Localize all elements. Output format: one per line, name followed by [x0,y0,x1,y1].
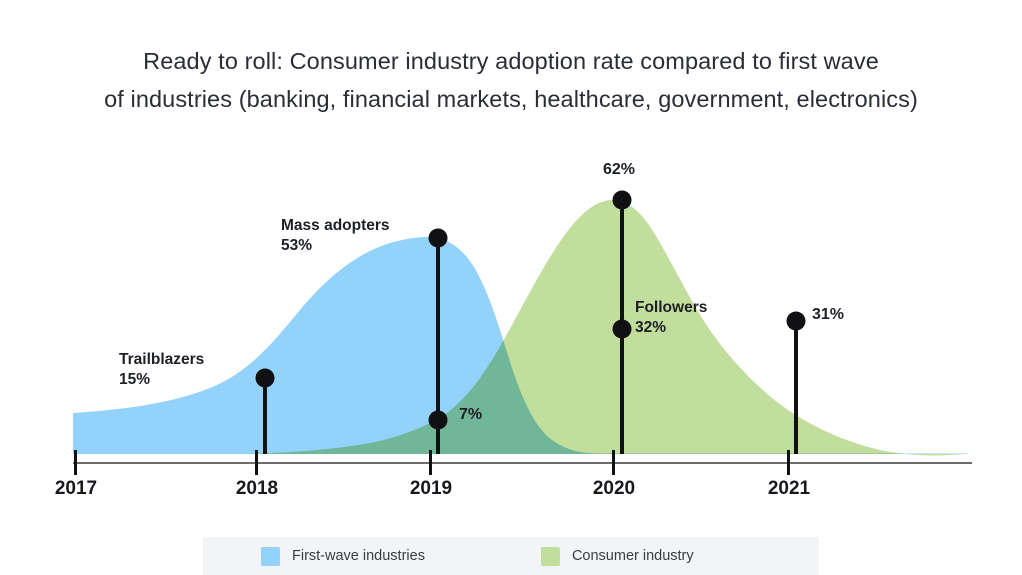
annotation-trailblazers-value: 15% [119,370,204,390]
marker-consumer-2021 [786,321,805,454]
marker-trailblazers [255,378,274,454]
annotation-followers: Followers 32% [635,298,707,338]
marker-stem [794,321,798,454]
annotation-mass-adopters: Mass adopters 53% [281,216,390,256]
annotation-consumer-peak-value: 62% [603,160,635,180]
chart-legend: First-wave industries Consumer industry [203,537,819,575]
legend-label-first-wave: First-wave industries [292,548,425,564]
annotation-consumer-2021-value: 31% [812,305,844,325]
legend-swatch-first-wave [261,547,280,566]
annotation-consumer-peak: 62% [603,160,635,180]
marker-dot [255,369,274,388]
x-axis-label-2018: 2018 [236,478,278,500]
x-axis-line [73,462,972,464]
marker-dot [786,312,805,331]
annotation-followers-name: Followers [635,298,707,318]
area-curves [0,0,1022,520]
annotation-mass-adopters-name: Mass adopters [281,216,390,236]
legend-item-first-wave[interactable]: First-wave industries [261,547,425,566]
annotation-trailblazers: Trailblazers 15% [119,350,204,390]
annotation-consumer-2019-value: 7% [459,405,482,425]
legend-swatch-consumer [541,547,560,566]
marker-consumer-2019 [428,420,447,454]
annotation-mass-adopters-value: 53% [281,236,390,256]
annotation-trailblazers-name: Trailblazers [119,350,204,370]
legend-item-consumer[interactable]: Consumer industry [541,547,694,566]
marker-dot [612,320,631,339]
x-axis-tick-2020 [612,450,615,475]
x-axis-label-2017: 2017 [55,478,97,500]
x-axis-tick-2021 [787,450,790,475]
x-axis-label-2020: 2020 [593,478,635,500]
x-axis-tick-2018 [255,450,258,475]
legend-label-consumer: Consumer industry [572,548,694,564]
annotation-consumer-2021: 31% [812,305,844,325]
chart-container: Ready to roll: Consumer industry adoptio… [0,0,1022,575]
x-axis-tick-2017 [74,450,77,475]
x-axis-label-2019: 2019 [410,478,452,500]
marker-stem [263,378,267,454]
marker-dot [428,411,447,430]
annotation-followers-value: 32% [635,318,707,338]
marker-followers [612,329,631,454]
marker-dot [612,191,631,210]
x-axis-label-2021: 2021 [768,478,810,500]
x-axis-tick-2019 [429,450,432,475]
plot-area: Trailblazers 15% Mass adopters 53% 62% F… [0,0,1022,520]
annotation-consumer-2019: 7% [459,405,482,425]
